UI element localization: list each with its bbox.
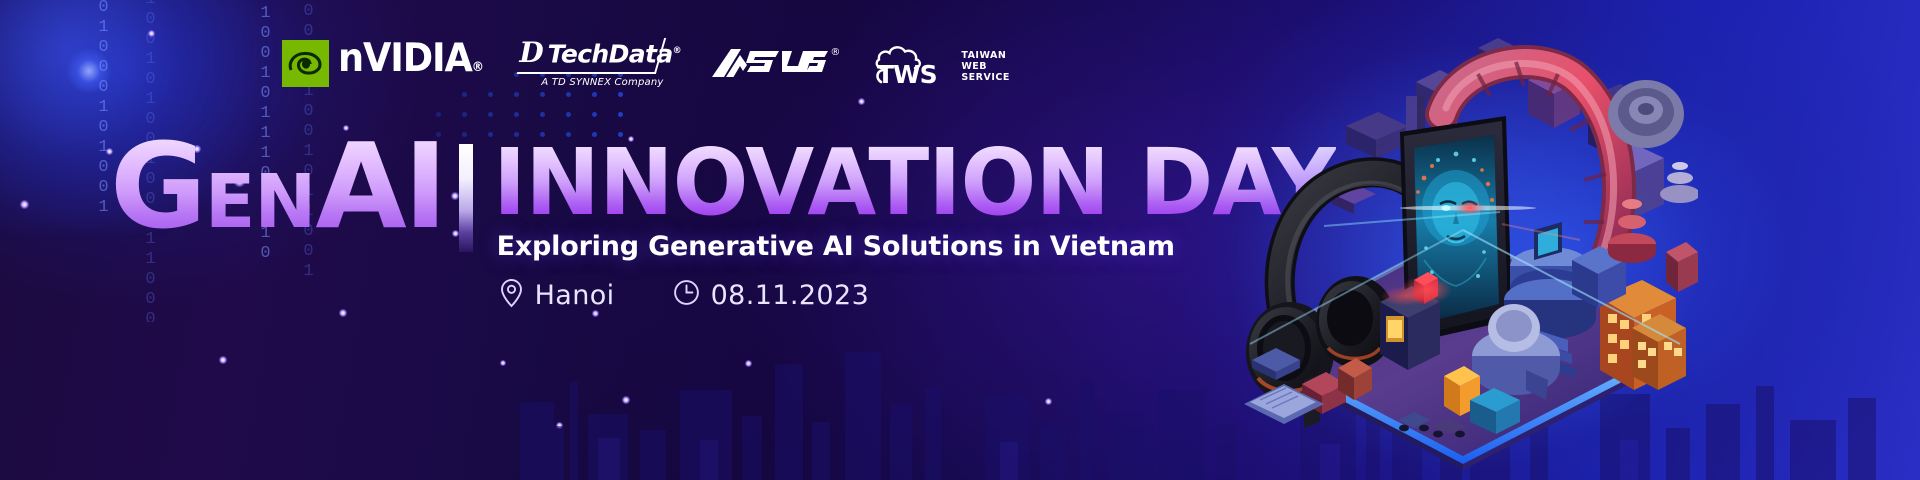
grid-dot [462,92,467,97]
location-label: Hanoi [535,280,615,311]
sparkle [1045,398,1052,405]
event-date: 08.11.2023 [673,279,870,311]
nvidia-eye-icon [282,40,329,87]
ai-isometric-city-illustration [1228,8,1698,478]
sponsor-logo-tws[interactable]: TWS TAIWAN WEB SERVICE [874,40,1010,86]
sparkle [622,396,630,404]
grid-dot [566,112,571,117]
sparkle [500,360,506,366]
genai-ai: AI [315,117,444,255]
grid-dot [540,92,545,97]
genai-g: G [110,117,205,255]
sparkle [20,200,29,209]
grid-dot [540,112,545,117]
sparkle [219,356,227,364]
tws-sub-line: SERVICE [961,72,1010,83]
headline-block: GENAI INNOVATION DAY Exploring Generativ… [110,138,1361,313]
tws-sub-line: TAIWAN [961,50,1006,61]
event-location: Hanoi [499,278,615,313]
grid-dot [488,92,493,97]
svg-text:TWS: TWS [877,60,937,86]
clock-icon [673,279,700,311]
grid-dot [488,112,493,117]
sponsor-logo-row: nVIDIA® D TechData® A TD SYNNEX Company [282,36,1010,90]
sparkle [148,30,155,37]
grid-dot [566,92,571,97]
techdata-monogram: D [519,39,543,67]
event-banner: 0001000101001 1101001010010011100010 100… [0,0,1920,480]
asus-wordmark [710,45,828,81]
techdata-underline [517,72,657,74]
date-label: 08.11.2023 [711,280,870,311]
genai-brand-title: GENAI [110,138,445,235]
genai-en: EN [205,159,315,245]
grid-dot [462,112,467,117]
glow-orb [66,48,112,94]
binary-column: 0001000101001 [96,0,111,218]
techdata-tagline: A TD SYNNEX Company [541,77,663,88]
asus-registered-mark: ® [830,47,840,58]
sparkle [858,98,865,105]
grid-dot [618,112,623,117]
sponsor-logo-asus[interactable]: ® [710,45,840,81]
sparkle [556,422,563,429]
title-divider-bar [459,144,473,252]
tws-sublabel: TAIWAN WEB SERVICE [961,50,1010,83]
grid-dot [514,92,519,97]
grid-dot [462,132,467,137]
grid-dot [592,112,597,117]
grid-dot [514,112,519,117]
grid-dot [592,92,597,97]
tws-sub-line: WEB [961,61,987,72]
sponsor-logo-nvidia[interactable]: nVIDIA® [282,39,493,87]
sponsor-logo-techdata[interactable]: D TechData® A TD SYNNEX Company [519,36,656,90]
location-pin-icon [499,278,524,313]
nvidia-wordmark: nVIDIA® [338,39,484,87]
tws-mark: TWS [874,40,958,86]
sparkle [745,360,752,367]
grid-dot [618,92,623,97]
page-title: INNOVATION DAY [493,142,1336,225]
